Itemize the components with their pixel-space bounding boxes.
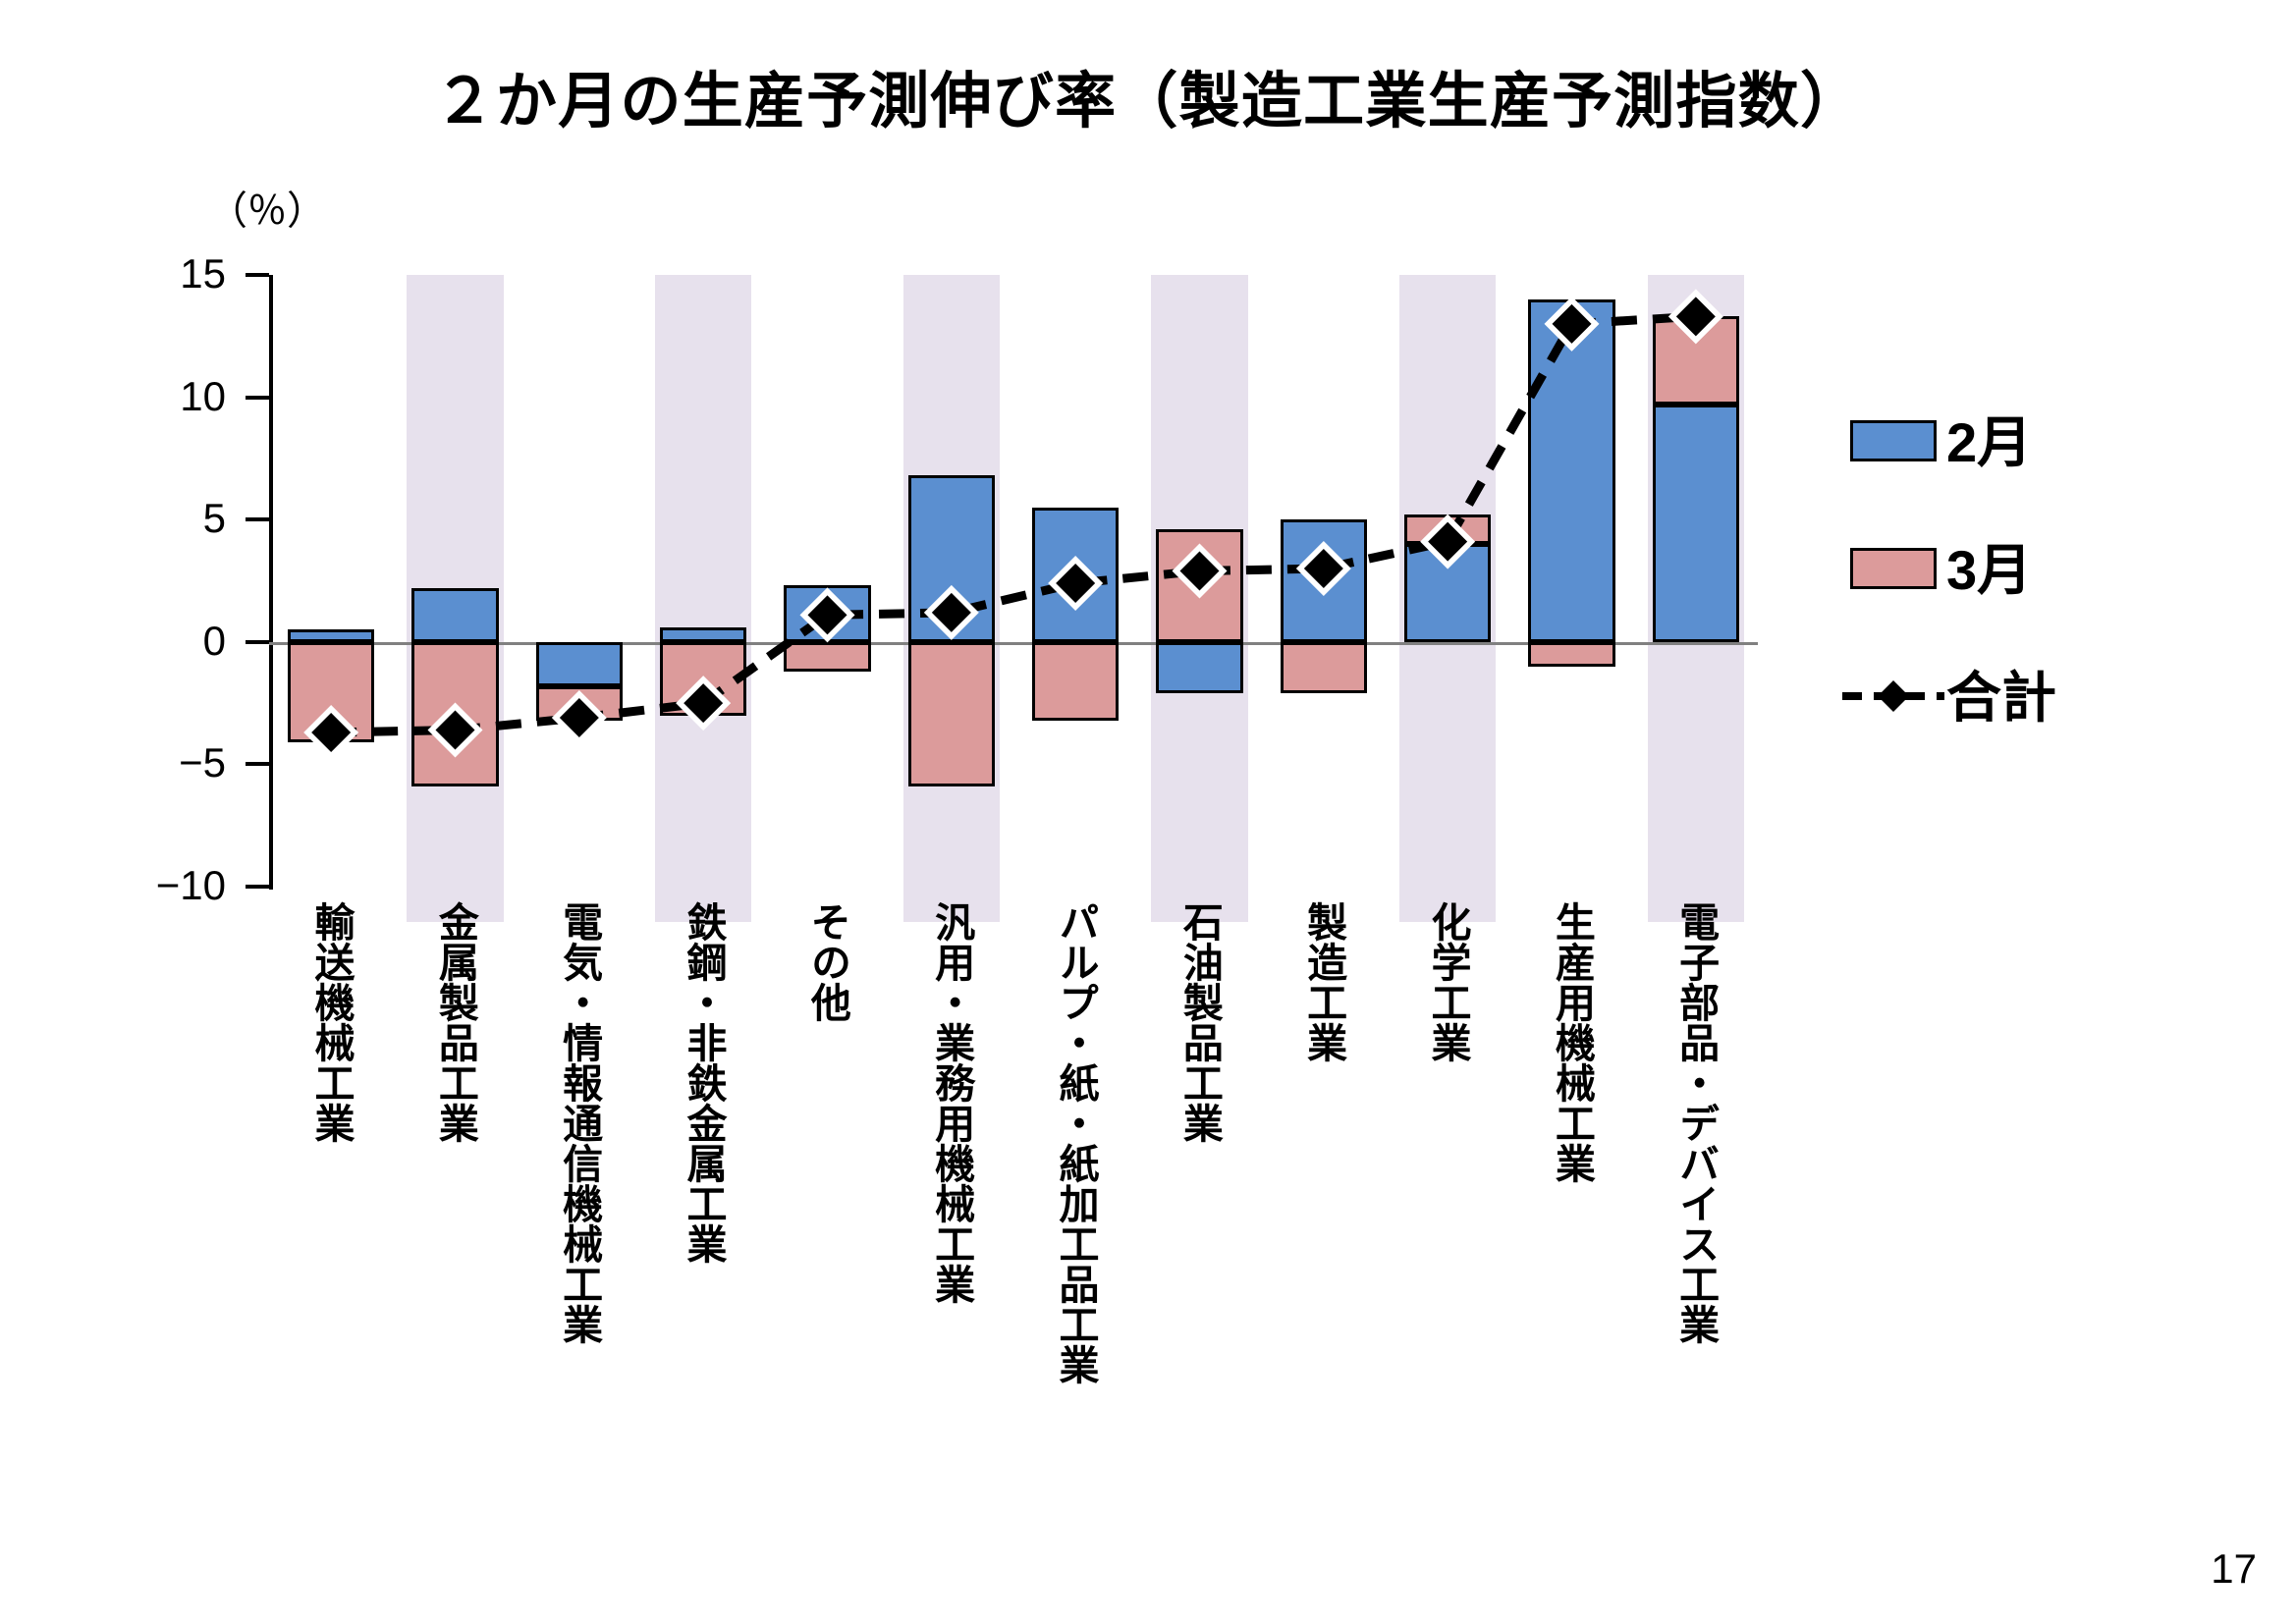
total-line-overlay <box>269 275 1758 887</box>
y-tick-label-0: 0 <box>98 621 226 662</box>
x-axis-label-12: 電子部品・デバイス工業 <box>1674 901 1716 1344</box>
y-tick-label--10: −10 <box>98 865 226 906</box>
legend-item-mar: 3月 <box>1823 530 2235 658</box>
total-marker <box>800 587 855 642</box>
x-axis-label-5: その他 <box>806 901 847 1022</box>
page-title: ２か月の生産予測伸び率（製造工業生産予測指数） <box>0 51 2296 139</box>
legend-label-mar: 3月 <box>1946 526 2032 606</box>
x-axis-label-8: 石油製品工業 <box>1178 901 1220 1143</box>
legend-label-feb: 2月 <box>1946 399 2032 478</box>
total-marker <box>1668 289 1723 344</box>
y-tick-label-15: 15 <box>98 253 226 295</box>
y-tick-5 <box>246 517 269 521</box>
x-axis-label-11: 生産用機械工業 <box>1551 901 1592 1183</box>
y-tick-label-5: 5 <box>98 498 226 539</box>
total-marker <box>1173 544 1228 599</box>
x-axis-label-3: 電気・情報通信機械工業 <box>558 901 599 1344</box>
x-axis-label-9: 製造工業 <box>1302 901 1343 1062</box>
total-marker <box>924 585 979 640</box>
x-axis-label-4: 鉄鋼・非鉄金属工業 <box>682 901 723 1264</box>
chart-legend: 2月 3月 合計 <box>1823 403 2235 785</box>
y-tick-15 <box>246 273 269 277</box>
x-axis-label-6: 汎用・業務用機械工業 <box>930 901 971 1304</box>
x-axis-label-2: 金属製品工業 <box>434 901 475 1143</box>
y-tick--10 <box>246 885 269 889</box>
legend-swatch-mar <box>1850 548 1937 589</box>
total-marker <box>676 676 731 731</box>
total-marker <box>1296 541 1351 596</box>
total-marker <box>1420 514 1475 569</box>
plot-area <box>269 275 1758 887</box>
x-axis-label-10: 化学工業 <box>1426 901 1467 1062</box>
total-marker <box>428 703 483 758</box>
page-number: 17 <box>2211 1545 2257 1593</box>
total-marker <box>303 705 358 760</box>
total-marker <box>1048 556 1103 611</box>
y-axis-unit-label: （％） <box>208 179 326 236</box>
legend-swatch-feb <box>1850 420 1937 461</box>
y-tick-label-10: 10 <box>98 376 226 417</box>
legend-dashed-line-icon <box>1842 672 1944 721</box>
total-marker <box>1545 297 1600 352</box>
slide-canvas: ２か月の生産予測伸び率（製造工業生産予測指数） （％） 151050−5−10 … <box>0 0 2296 1624</box>
y-tick-0 <box>246 640 269 644</box>
y-tick-10 <box>246 396 269 400</box>
y-tick--5 <box>246 762 269 766</box>
x-axis-label-7: パルプ・紙・紙加工品工業 <box>1054 901 1095 1384</box>
y-tick-label--5: −5 <box>98 742 226 784</box>
x-axis-labels: 輸送機械工業金属製品工業電気・情報通信機械工業鉄鋼・非鉄金属工業その他汎用・業務… <box>269 901 1758 1451</box>
legend-label-total: 合計 <box>1946 654 2056 733</box>
x-axis-label-1: 輸送機械工業 <box>309 901 351 1143</box>
legend-item-total: 合計 <box>1823 658 2235 785</box>
legend-item-feb: 2月 <box>1823 403 2235 530</box>
total-marker <box>552 690 607 745</box>
